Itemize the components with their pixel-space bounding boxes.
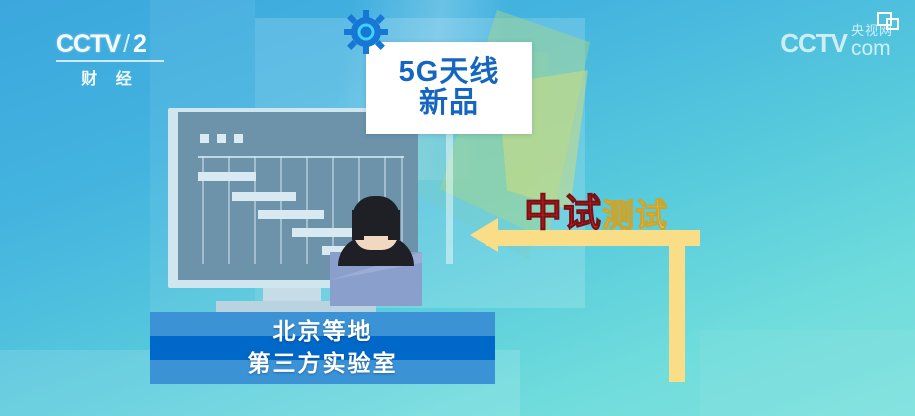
banner-line2: 第三方实验室 <box>248 348 398 380</box>
process-stage-text: 中试 <box>524 193 602 235</box>
background-wash-right <box>700 330 915 416</box>
channel-bug: CCTV / 2 财 经 <box>56 30 176 86</box>
location-banner: 北京等地 第三方实验室 <box>150 312 495 384</box>
watermark-network: CCTV <box>780 28 847 59</box>
title-card-line2: 新品 <box>419 88 479 119</box>
title-card-stem <box>446 134 453 264</box>
banner-line1: 北京等地 <box>273 316 373 348</box>
watermark-domain: com <box>851 38 891 59</box>
title-card-line1: 5G天线 <box>399 57 500 88</box>
gantt-bar <box>258 210 324 219</box>
gantt-bar <box>198 172 256 181</box>
title-card-group: 5G天线 新品 <box>366 42 532 134</box>
picture-in-picture-icon[interactable] <box>877 12 899 32</box>
channel-underline <box>56 60 164 62</box>
title-card: 5G天线 新品 <box>366 42 532 134</box>
person-hair-right <box>388 210 400 240</box>
person-hair-left <box>352 210 364 240</box>
left-arrow-icon <box>470 222 700 382</box>
process-label: 中试测试 <box>524 182 668 237</box>
channel-name: 财 经 <box>56 65 164 89</box>
gear-icon <box>344 10 388 54</box>
arrow-head <box>470 218 498 252</box>
broadcast-frame: 5G天线 新品 中试测试 <box>0 0 915 416</box>
person-illustration <box>330 196 422 306</box>
channel-network-text: CCTV <box>56 30 120 59</box>
channel-number: 2 <box>133 30 147 59</box>
channel-slash: / <box>123 30 130 59</box>
arrow-vertical-stem <box>669 230 685 382</box>
window-dots-icon <box>200 134 243 143</box>
gantt-bar <box>232 192 296 201</box>
process-action-text: 测试 <box>602 197 668 233</box>
